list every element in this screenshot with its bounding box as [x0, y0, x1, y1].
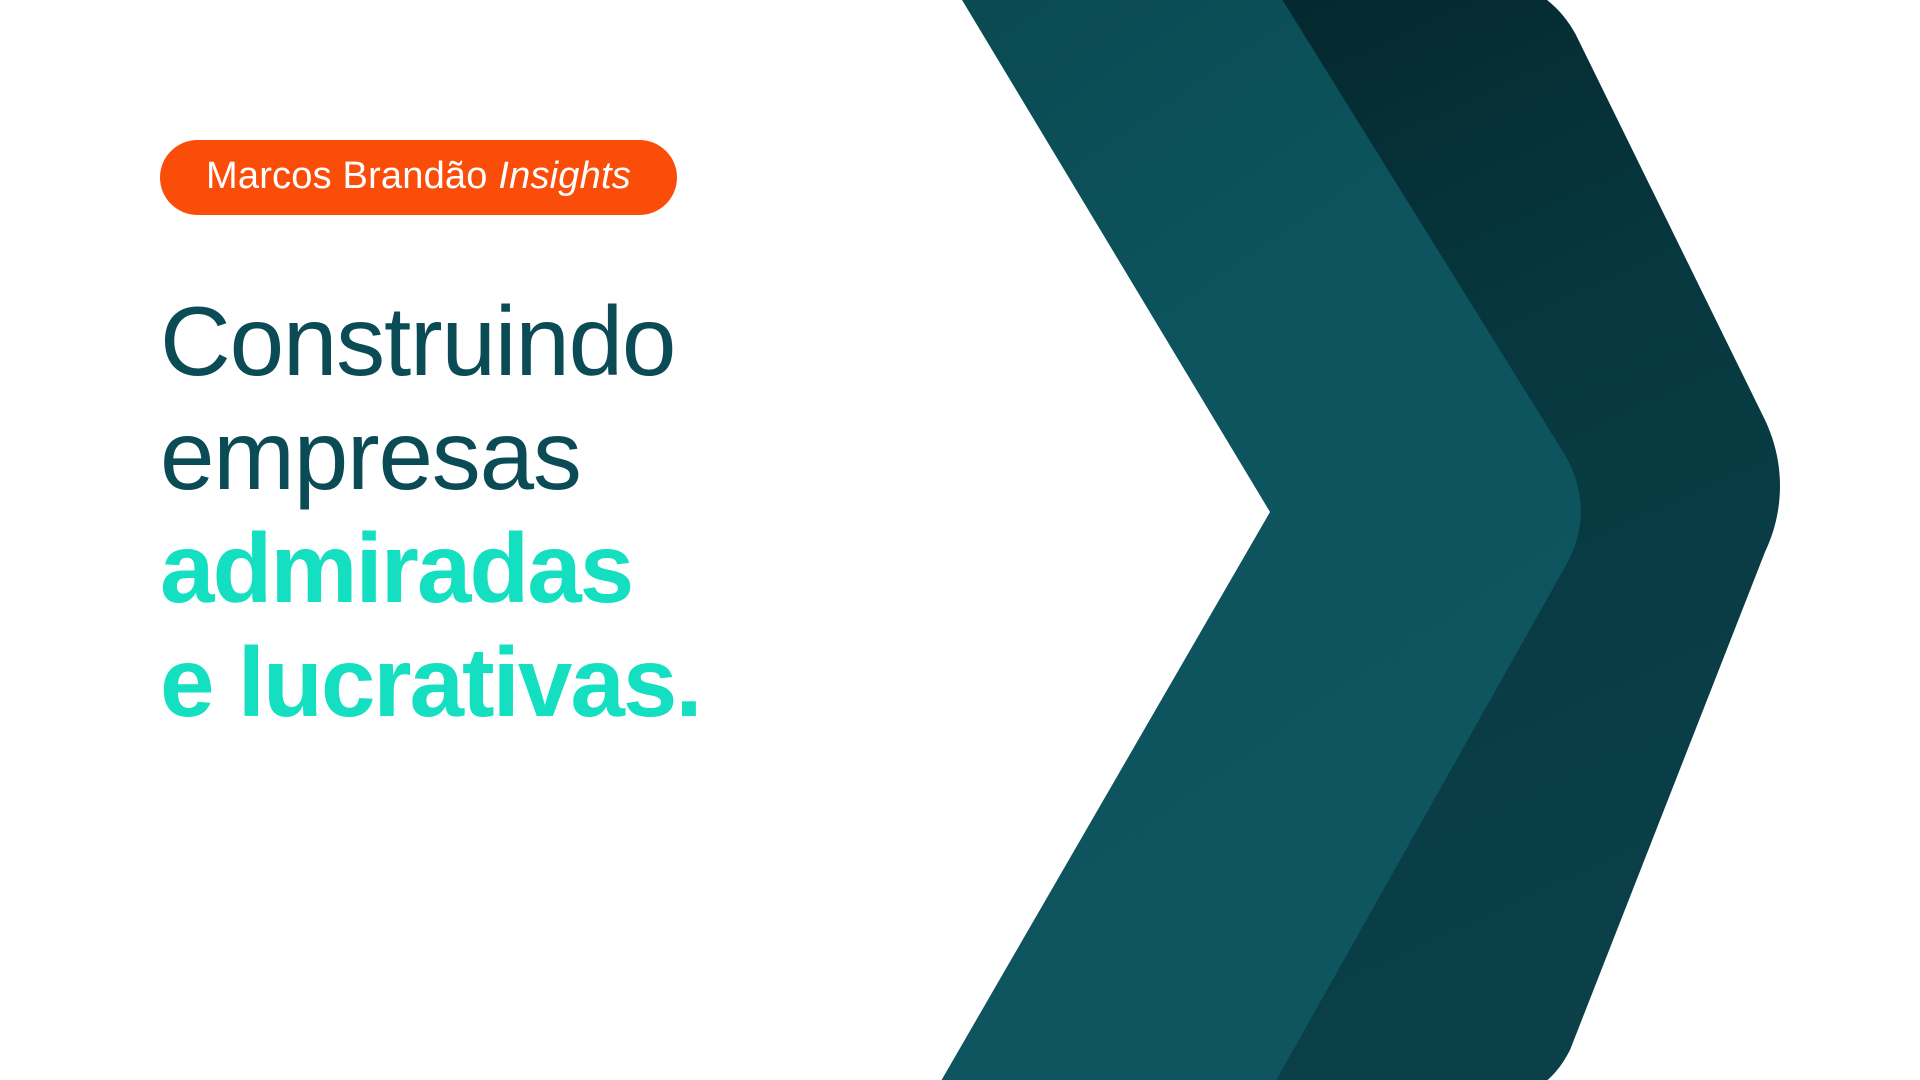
chevron-front-shape	[930, 0, 1581, 1080]
double-chevron-decoration	[870, 0, 1920, 1080]
chevron-svg	[870, 0, 1920, 1080]
headline-line-4: e lucrativas.	[160, 626, 960, 740]
headline-line-1: Construindo	[160, 285, 960, 399]
content-column: Marcos Brandão Insights Construindo empr…	[160, 140, 960, 740]
slide-canvas: Marcos Brandão Insights Construindo empr…	[0, 0, 1920, 1080]
page-title: Construindo empresas admiradas e lucrati…	[160, 285, 960, 740]
badge-label-plain: Marcos Brandão	[206, 155, 498, 197]
headline-line-2: empresas	[160, 399, 960, 513]
headline-line-3: admiradas	[160, 512, 960, 626]
chevron-back-shape	[1170, 0, 1780, 1080]
insights-badge: Marcos Brandão Insights	[160, 140, 677, 215]
badge-label-emphasis: Insights	[498, 155, 631, 197]
